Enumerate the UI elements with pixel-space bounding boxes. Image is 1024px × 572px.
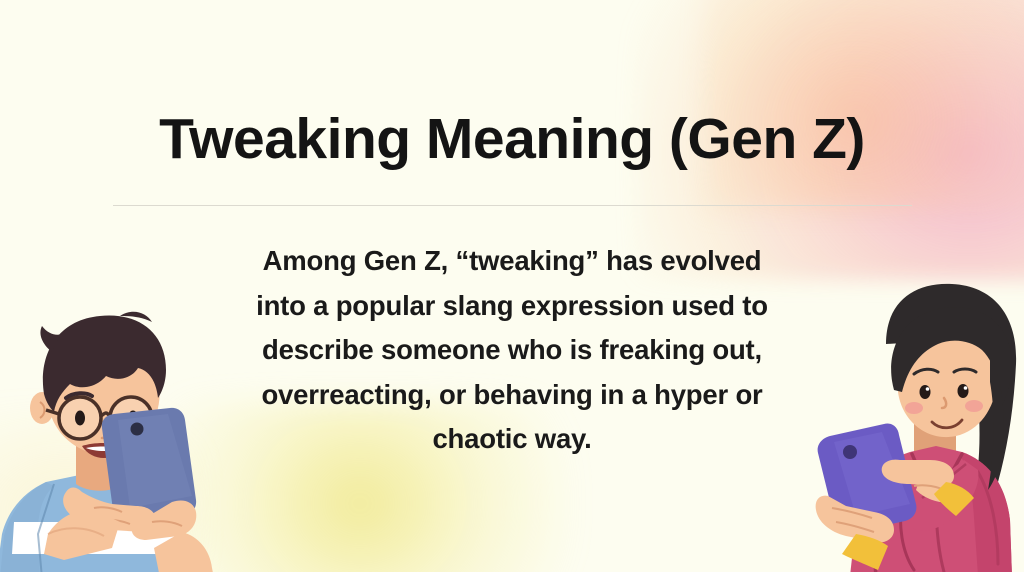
page-title: Tweaking Meaning (Gen Z) bbox=[0, 103, 1024, 175]
definition-line-2: into a popular slang expression used to bbox=[256, 290, 768, 321]
definition-line-1: Among Gen Z, “tweaking” has evolved bbox=[263, 245, 762, 276]
title-divider bbox=[113, 205, 912, 206]
definition-paragraph: Among Gen Z, “tweaking” has evolved into… bbox=[192, 239, 832, 462]
slide-canvas: Tweaking Meaning (Gen Z) Among Gen Z, “t… bbox=[0, 0, 1024, 572]
definition-line-5: chaotic way. bbox=[432, 423, 591, 454]
definition-line-3: describe someone who is freaking out, bbox=[262, 334, 762, 365]
definition-line-4: overreacting, or behaving in a hyper or bbox=[261, 379, 762, 410]
slide-content: Tweaking Meaning (Gen Z) Among Gen Z, “t… bbox=[0, 0, 1024, 572]
